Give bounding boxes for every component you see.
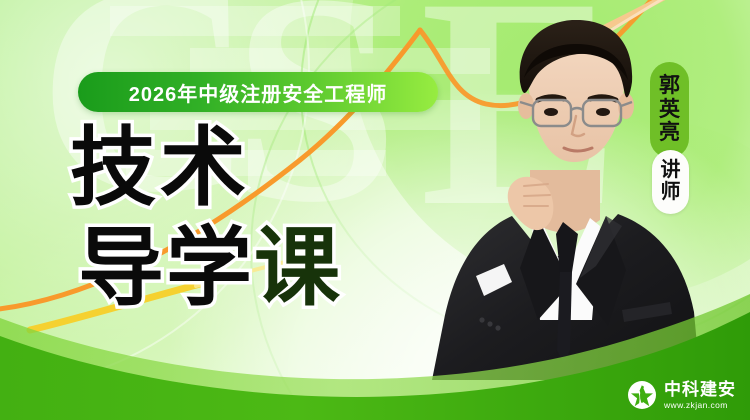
brand-name: 中科建安 bbox=[664, 381, 736, 398]
headline-block: 技术 导学课 bbox=[70, 126, 342, 311]
brand-logo: 中科建安 www.zkjan.com bbox=[627, 380, 736, 410]
arrow-person-logo-icon bbox=[627, 380, 657, 410]
instructor-name-char-3: 亮 bbox=[659, 122, 680, 145]
headline-line-1: 技术 bbox=[70, 126, 342, 210]
course-poster: C S E 2026年中级注册安全工程师 技术 导学课 bbox=[0, 0, 750, 420]
instructor-name-badge: 郭 英 亮 bbox=[650, 62, 689, 158]
instructor-role-badge: 讲 师 bbox=[652, 150, 689, 214]
instructor-name-char-1: 郭 bbox=[659, 75, 680, 98]
instructor-role-char-1: 讲 bbox=[661, 160, 681, 182]
instructor-role-char-2: 师 bbox=[661, 182, 681, 204]
decor-rect-1 bbox=[110, 6, 400, 36]
brand-text-block: 中科建安 www.zkjan.com bbox=[664, 381, 736, 410]
brand-url: www.zkjan.com bbox=[664, 401, 736, 410]
exam-banner: 2026年中级注册安全工程师 bbox=[78, 72, 438, 112]
exam-banner-label: 2026年中级注册安全工程师 bbox=[129, 78, 388, 107]
instructor-name-char-2: 英 bbox=[659, 99, 680, 122]
